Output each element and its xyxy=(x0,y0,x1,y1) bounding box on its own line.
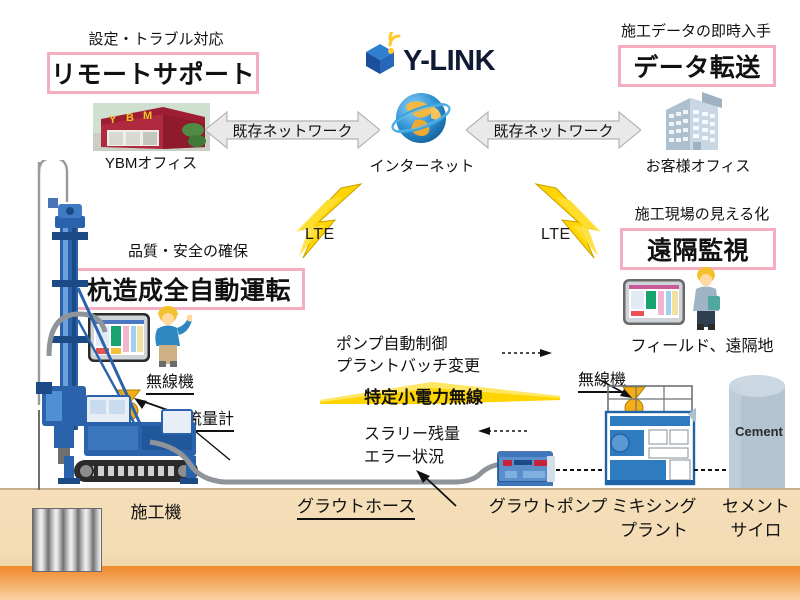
remote-support-box[interactable]: リモートサポート xyxy=(47,52,259,94)
operator-person-icon-right xyxy=(688,266,728,332)
field-remote-location-label: フィールド、遠隔地 xyxy=(612,332,792,356)
cement-silo-label-line2: サイロ xyxy=(712,516,800,541)
pump-to-plant-dashed-line xyxy=(556,462,610,472)
grout-pump-label: グラウトポンプ xyxy=(488,492,608,517)
dashed-arrow-right-icon xyxy=(500,345,554,361)
mixing-plant-label-line1: ミキシング xyxy=(606,492,702,517)
tablet-dashboard-icon-right[interactable] xyxy=(623,279,685,325)
cement-silo-label-line1: セメント xyxy=(712,492,800,517)
remote-monitor-box[interactable]: 遠隔監視 xyxy=(620,228,776,270)
y-link-wordmark: Y-LINK xyxy=(403,45,495,78)
specified-low-power-radio-label: 特定小電力無線 xyxy=(364,383,483,408)
existing-network-arrow-left: 既存ネットワーク xyxy=(205,108,380,152)
internet-label: インターネット xyxy=(356,155,488,176)
cement-silo-text: Cement xyxy=(731,424,787,439)
concrete-pile-icon xyxy=(32,508,102,572)
lightning-bolt-icon-right xyxy=(524,182,614,264)
remote-support-caption: 設定・トラブル対応 xyxy=(56,28,256,49)
remote-monitor-caption: 施工現場の見える化 xyxy=(604,203,800,224)
ybm-office-photo: Y B M xyxy=(93,103,210,151)
globe-icon xyxy=(389,86,455,152)
data-transfer-box[interactable]: データ転送 xyxy=(618,45,776,87)
svg-text:Y: Y xyxy=(109,114,117,126)
data-transfer-caption: 施工データの即時入手 xyxy=(592,20,800,41)
grout-hose-label: グラウトホース xyxy=(297,492,415,520)
lte-label-right: LTE xyxy=(541,226,571,244)
svg-text:M: M xyxy=(143,110,152,122)
lightning-bolt-icon-left xyxy=(283,182,373,264)
grout-pump-icon xyxy=(495,448,557,490)
mixing-plant-icon xyxy=(604,382,696,488)
rig-label: 施工機 xyxy=(108,498,204,523)
dashed-arrow-left-icon xyxy=(476,423,530,439)
existing-network-arrow-right-label: 既存ネットワーク xyxy=(493,120,613,141)
existing-network-arrow-left-label: 既存ネットワーク xyxy=(232,120,352,141)
grout-hose-pointer-arrow-icon xyxy=(412,468,462,510)
mixing-plant-label-line2: プラント xyxy=(606,516,702,541)
diagram-canvas: 設定・トラブル対応 リモートサポート Y B M YBMオフィス 既存ネットワー… xyxy=(0,0,800,600)
customer-office-building-icon xyxy=(660,92,734,154)
deep-strata-layer xyxy=(0,566,800,600)
svg-text:B: B xyxy=(126,112,134,124)
existing-network-arrow-right: 既存ネットワーク xyxy=(466,108,641,152)
customer-office-label: お客様オフィス xyxy=(623,155,773,176)
lte-label-left: LTE xyxy=(305,226,335,244)
